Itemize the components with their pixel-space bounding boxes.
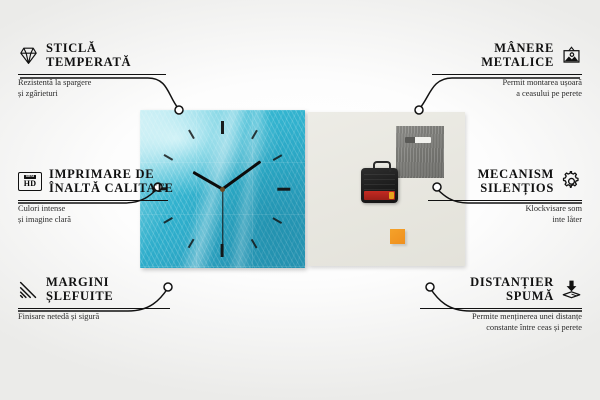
callout-title: DISTANȚIER SPUMĂ <box>470 276 554 303</box>
callout-distantier-spuma[interactable]: DISTANȚIER SPUMĂ Permite menținerea unei… <box>420 276 582 333</box>
clock-tick-3 <box>278 188 291 191</box>
mechanism-texture <box>364 172 395 190</box>
callout-manere-metalice[interactable]: MÂNERE METALICE Permit montarea ușoară a… <box>432 42 582 99</box>
callout-desc-line1: Rezistentă la spargere <box>18 78 166 88</box>
callout-desc-line1: Culori intense <box>18 204 168 214</box>
mechanism-hook <box>373 161 391 172</box>
callout-desc-line2: și imagine clară <box>18 215 168 225</box>
callout-mecanism-silentios[interactable]: MECANISM SILENȚIOS Klockvisare som inte … <box>428 168 582 225</box>
callout-header: DISTANȚIER SPUMĂ <box>420 276 582 303</box>
gear-icon <box>561 171 582 192</box>
callout-desc-line2: inte låter <box>428 215 582 225</box>
callout-divider <box>428 200 582 201</box>
foam-spacer-icon <box>561 279 582 300</box>
diamond-icon <box>18 45 39 66</box>
callout-sticla-temperata[interactable]: STICLĂ TEMPERATĂ Rezistentă la spargere … <box>18 42 166 99</box>
callout-header: ultra HD IMPRIMARE DE ÎNALTĂ CALITATE <box>18 168 168 195</box>
callout-title: IMPRIMARE DE ÎNALTĂ CALITATE <box>49 168 174 195</box>
callout-desc-line2: constante între ceas și perete <box>420 323 582 333</box>
callout-divider <box>18 74 166 75</box>
callout-title: STICLĂ TEMPERATĂ <box>46 42 131 69</box>
callout-desc-line1: Klockvisare som <box>428 204 582 214</box>
callout-desc-line2: a ceasului pe perete <box>432 89 582 99</box>
callout-divider <box>432 74 582 75</box>
callout-divider <box>18 200 168 201</box>
infographic-canvas: STICLĂ TEMPERATĂ Rezistentă la spargere … <box>0 0 600 400</box>
polished-edges-icon <box>18 279 39 300</box>
callout-title: MÂNERE METALICE <box>481 42 554 69</box>
product-images <box>140 110 465 270</box>
hanger-slot <box>405 137 431 143</box>
callout-desc-line1: Finisare netedă și sigură <box>18 312 170 322</box>
clock-hand-second <box>222 189 223 247</box>
callout-title: MARGINI ȘLEFUITE <box>46 276 113 303</box>
callout-imprimare-inalta-calitate[interactable]: ultra HD IMPRIMARE DE ÎNALTĂ CALITATE Cu… <box>18 168 168 225</box>
callout-desc-line1: Permite menținerea unei distanțe <box>420 312 582 322</box>
callout-divider <box>18 308 170 309</box>
clock-mechanism <box>361 168 398 203</box>
callout-title: MECANISM SILENȚIOS <box>478 168 554 195</box>
ultra-hd-icon: ultra HD <box>18 172 42 191</box>
callout-desc-line2: și zgârieturi <box>18 89 166 99</box>
callout-divider <box>420 308 582 309</box>
callout-desc-line1: Permit montarea ușoară <box>432 78 582 88</box>
callout-header: MÂNERE METALICE <box>432 42 582 69</box>
callout-header: MECANISM SILENȚIOS <box>428 168 582 195</box>
foam-spacer <box>390 229 405 244</box>
picture-hanger-icon <box>561 45 582 66</box>
callout-margini-slefuite[interactable]: MARGINI ȘLEFUITE Finisare netedă și sigu… <box>18 276 170 323</box>
clock-tick-12 <box>221 121 224 134</box>
callout-header: MARGINI ȘLEFUITE <box>18 276 170 303</box>
clock-center-cap <box>220 187 225 192</box>
battery <box>364 191 395 200</box>
callout-header: STICLĂ TEMPERATĂ <box>18 42 166 69</box>
